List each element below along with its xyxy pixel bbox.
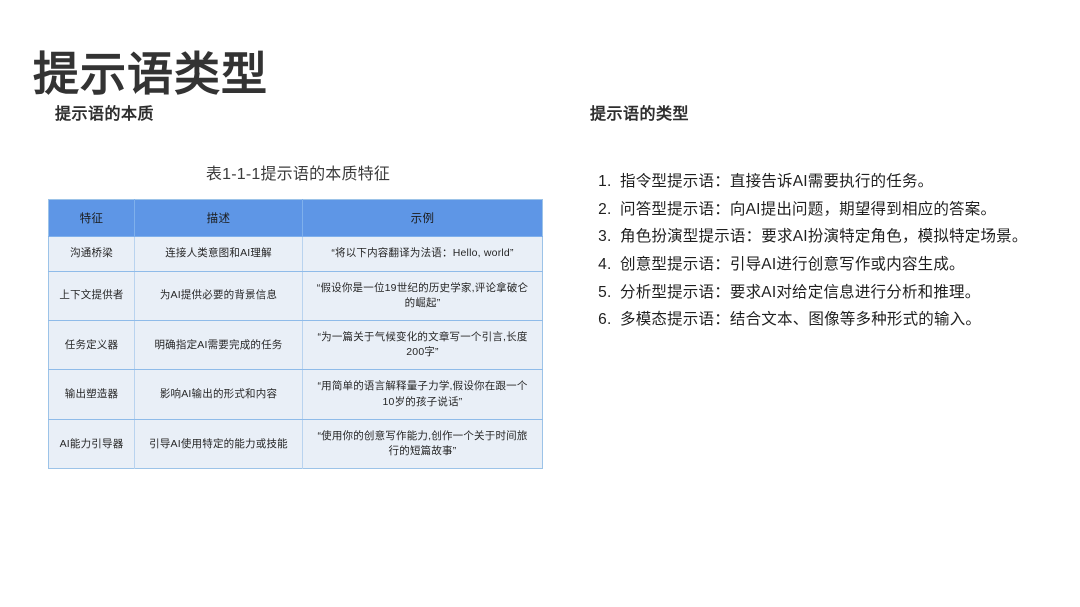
list-item: 指令型提示语：直接告诉AI需要执行的任务。 [616,168,1040,196]
cell-description: 连接人类意图和AI理解 [135,237,303,271]
list-item: 多模态提示语：结合文本、图像等多种形式的输入。 [616,306,1040,334]
table-header-feature: 特征 [49,200,135,237]
table-caption: 表1-1-1提示语的本质特征 [48,165,548,184]
cell-example: “使用你的创意写作能力,创作一个关于时间旅行的短篇故事” [303,419,543,468]
cell-description: 明确指定AI需要完成的任务 [135,321,303,370]
left-section-heading: 提示语的本质 [48,105,548,124]
list-item: 问答型提示语：向AI提出问题，期望得到相应的答案。 [616,196,1040,224]
cell-example: “为一篇关于气候变化的文章写一个引言,长度200字” [303,321,543,370]
table-row: 上下文提供者 为AI提供必要的背景信息 “假设你是一位19世纪的历史学家,评论拿… [49,271,543,320]
slide-root: 提示语类型 提示语的本质 表1-1-1提示语的本质特征 特征 描述 示例 [0,0,1080,607]
table-header-row: 特征 描述 示例 [49,200,543,237]
cell-example: “用简单的语言解释量子力学,假设你在跟一个10岁的孩子说话” [303,370,543,419]
table-header-example: 示例 [303,200,543,237]
table-header-description: 描述 [135,200,303,237]
cell-example: “将以下内容翻译为法语：Hello, world” [303,237,543,271]
cell-description: 为AI提供必要的背景信息 [135,271,303,320]
prompt-type-list: 指令型提示语：直接告诉AI需要执行的任务。 问答型提示语：向AI提出问题，期望得… [588,168,1040,333]
feature-table: 特征 描述 示例 沟通桥梁 连接人类意图和AI理解 “将以下内容翻译为法语：He… [48,199,543,469]
right-section-heading: 提示语的类型 [588,105,1040,124]
left-column: 提示语的本质 表1-1-1提示语的本质特征 特征 描述 示例 沟通桥梁 [48,105,548,469]
cell-feature: AI能力引导器 [49,419,135,468]
cell-description: 引导AI使用特定的能力或技能 [135,419,303,468]
table-row: 沟通桥梁 连接人类意图和AI理解 “将以下内容翻译为法语：Hello, worl… [49,237,543,271]
cell-feature: 任务定义器 [49,321,135,370]
table-row: 任务定义器 明确指定AI需要完成的任务 “为一篇关于气候变化的文章写一个引言,长… [49,321,543,370]
cell-feature: 沟通桥梁 [49,237,135,271]
list-item: 分析型提示语：要求AI对给定信息进行分析和推理。 [616,279,1040,307]
cell-feature: 输出塑造器 [49,370,135,419]
page-title: 提示语类型 [33,48,268,101]
table-row: 输出塑造器 影响AI输出的形式和内容 “用简单的语言解释量子力学,假设你在跟一个… [49,370,543,419]
table-row: AI能力引导器 引导AI使用特定的能力或技能 “使用你的创意写作能力,创作一个关… [49,419,543,468]
cell-description: 影响AI输出的形式和内容 [135,370,303,419]
list-item: 创意型提示语：引导AI进行创意写作或内容生成。 [616,251,1040,279]
right-column: 提示语的类型 指令型提示语：直接告诉AI需要执行的任务。 问答型提示语：向AI提… [588,105,1040,334]
cell-feature: 上下文提供者 [49,271,135,320]
slide-body: 提示语的本质 表1-1-1提示语的本质特征 特征 描述 示例 沟通桥梁 [0,105,1080,607]
list-item: 角色扮演型提示语：要求AI扮演特定角色，模拟特定场景。 [616,223,1040,251]
cell-example: “假设你是一位19世纪的历史学家,评论拿破仑的崛起” [303,271,543,320]
